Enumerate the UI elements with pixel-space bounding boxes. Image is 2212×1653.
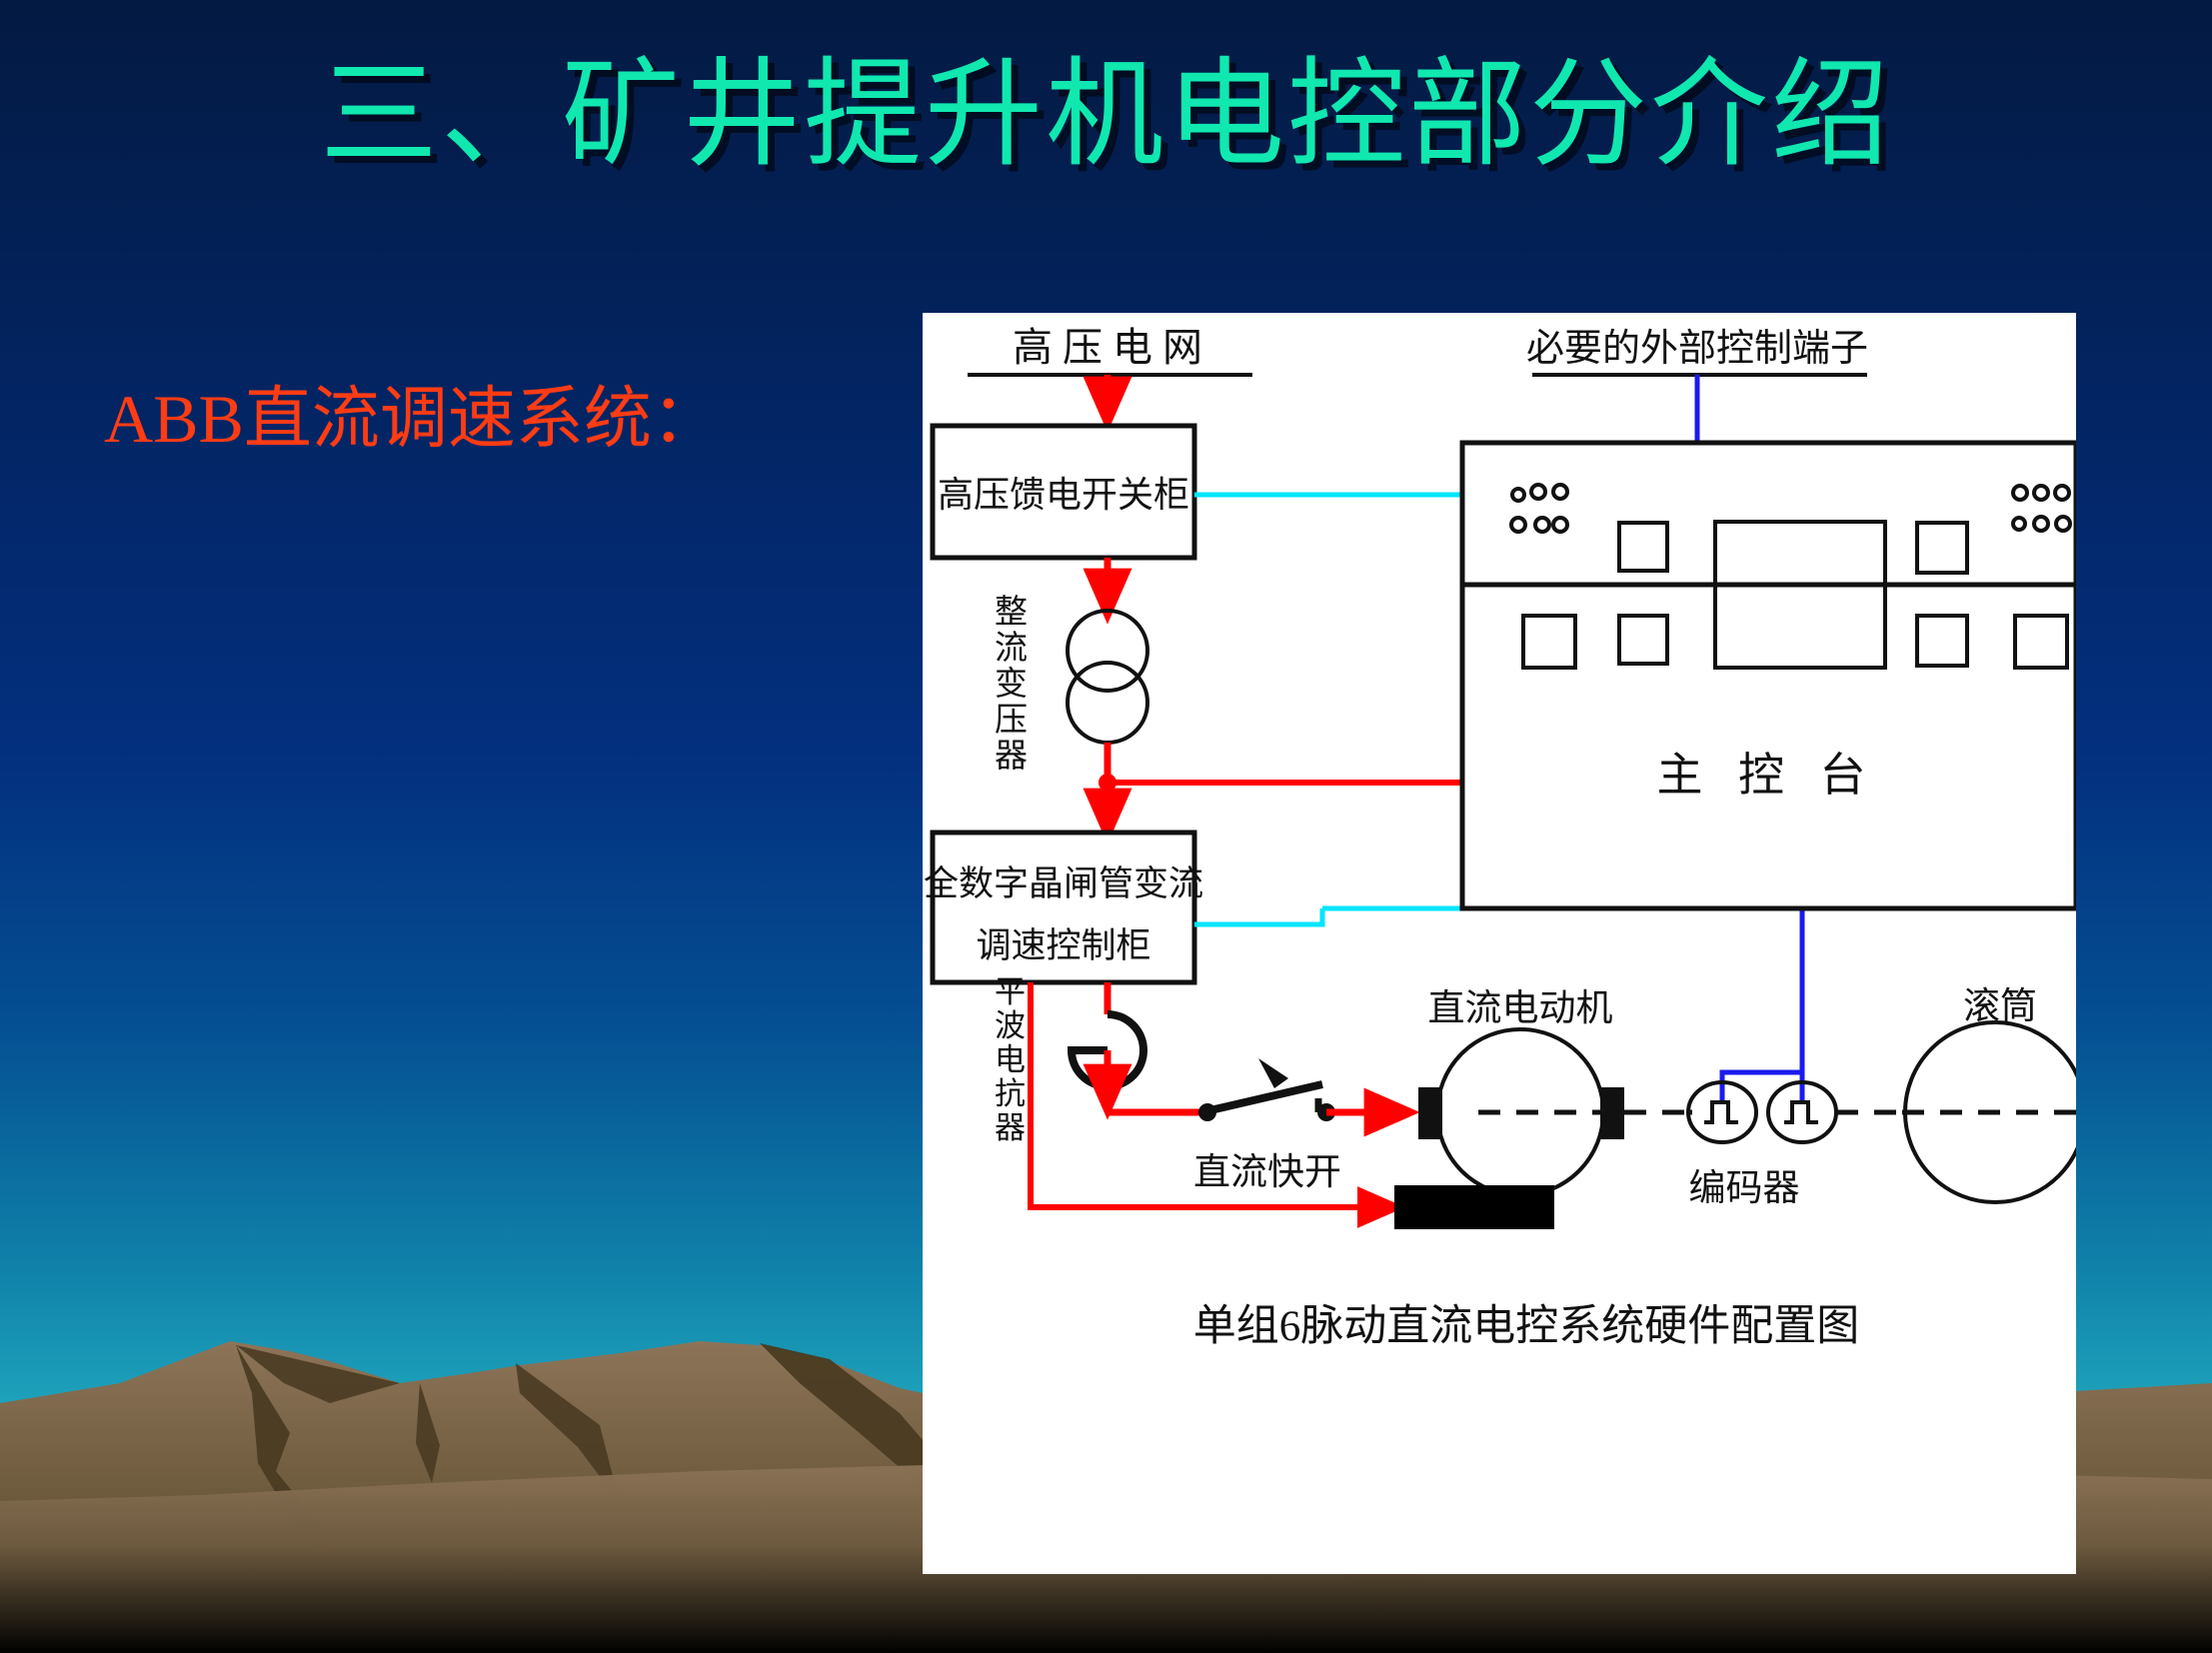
label-dc-fast-switch: 直流快开 bbox=[1193, 1152, 1341, 1193]
control-line-encoder-branch-left bbox=[1722, 1072, 1802, 1102]
fast-switch-blade-icon bbox=[1210, 1084, 1322, 1110]
box-main-control-console bbox=[1462, 443, 2076, 908]
label-rectifier-transformer: 整 流 变 压 器 bbox=[995, 594, 1036, 775]
slide-title: 三、矿井提升机电控部分介绍 bbox=[0, 52, 2212, 179]
label-external-control-terminals: 必要的外部控制端子 bbox=[1526, 328, 1868, 370]
presentation-slide: 三、矿井提升机电控部分介绍 ABB直流调速系统： 高 压 电 网 必要的外部控制… bbox=[0, 0, 2212, 1653]
diagram-caption: 单组6脉动直流电控系统硬件配置图 bbox=[1193, 1303, 1860, 1350]
field-winding-bar-icon bbox=[1394, 1185, 1554, 1229]
signal-line-cabinet-to-console bbox=[1194, 908, 1322, 924]
encoder-1-pulse-glyph bbox=[1704, 1102, 1738, 1122]
label-main-control-console: 主 控 台 bbox=[1657, 750, 1878, 801]
label-high-voltage-grid: 高 压 电 网 bbox=[1013, 325, 1202, 370]
fast-switch-arc-icon bbox=[1258, 1058, 1288, 1088]
transformer-winding-primary-icon bbox=[1068, 611, 1147, 691]
mountain-shadow-4 bbox=[516, 1363, 620, 1503]
mountain-shadow-3 bbox=[416, 1383, 440, 1483]
label-smoothing-reactor: 平 波 电 抗 器 bbox=[995, 974, 1034, 1145]
motor-brush-left-icon bbox=[1418, 1087, 1442, 1139]
subtitle-abb-dc-drive-system: ABB直流调速系统： bbox=[104, 382, 720, 457]
label-thyristor-cabinet-line1: 全数字晶闸管变流 bbox=[924, 864, 1203, 903]
mountain-shadow-1 bbox=[236, 1345, 336, 1563]
diagram-canvas: 高 压 电 网 必要的外部控制端子 高压馈电开关柜 整 流 变 压 bbox=[923, 313, 2076, 1574]
mountain-shadow-2 bbox=[236, 1345, 400, 1403]
hardware-configuration-diagram-panel: 高 压 电 网 必要的外部控制端子 高压馈电开关柜 整 流 变 压 bbox=[923, 313, 2076, 1574]
label-thyristor-cabinet-line2: 调速控制柜 bbox=[976, 926, 1150, 965]
label-dc-motor: 直流电动机 bbox=[1428, 988, 1613, 1029]
label-encoder: 编码器 bbox=[1689, 1167, 1800, 1209]
encoder-2-pulse-glyph bbox=[1784, 1102, 1818, 1122]
transformer-winding-secondary-icon bbox=[1068, 663, 1147, 743]
label-hv-feeder-switchgear: 高压馈电开关柜 bbox=[938, 475, 1189, 515]
